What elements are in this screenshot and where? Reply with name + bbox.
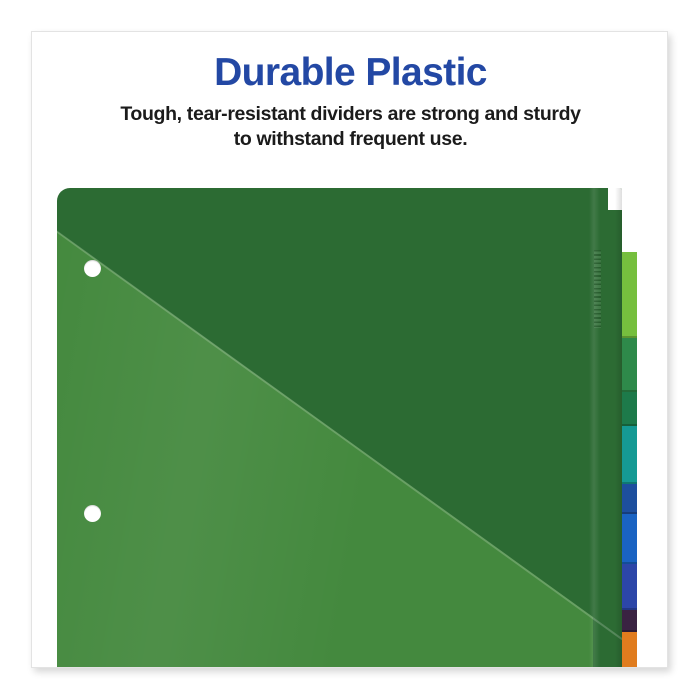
binder-hole-bottom bbox=[84, 505, 101, 522]
sheet-edge-shadow bbox=[615, 188, 622, 668]
binder-hole-top bbox=[84, 260, 101, 277]
green-divider-sheet bbox=[57, 188, 622, 668]
product-card: Durable Plastic Tough, tear-resistant di… bbox=[31, 31, 668, 668]
divider-product-photo bbox=[32, 32, 668, 668]
reinforced-rib-strip bbox=[594, 250, 601, 328]
product-image-canvas: Durable Plastic Tough, tear-resistant di… bbox=[0, 0, 700, 700]
pocket-sheen-overlay bbox=[57, 188, 622, 668]
